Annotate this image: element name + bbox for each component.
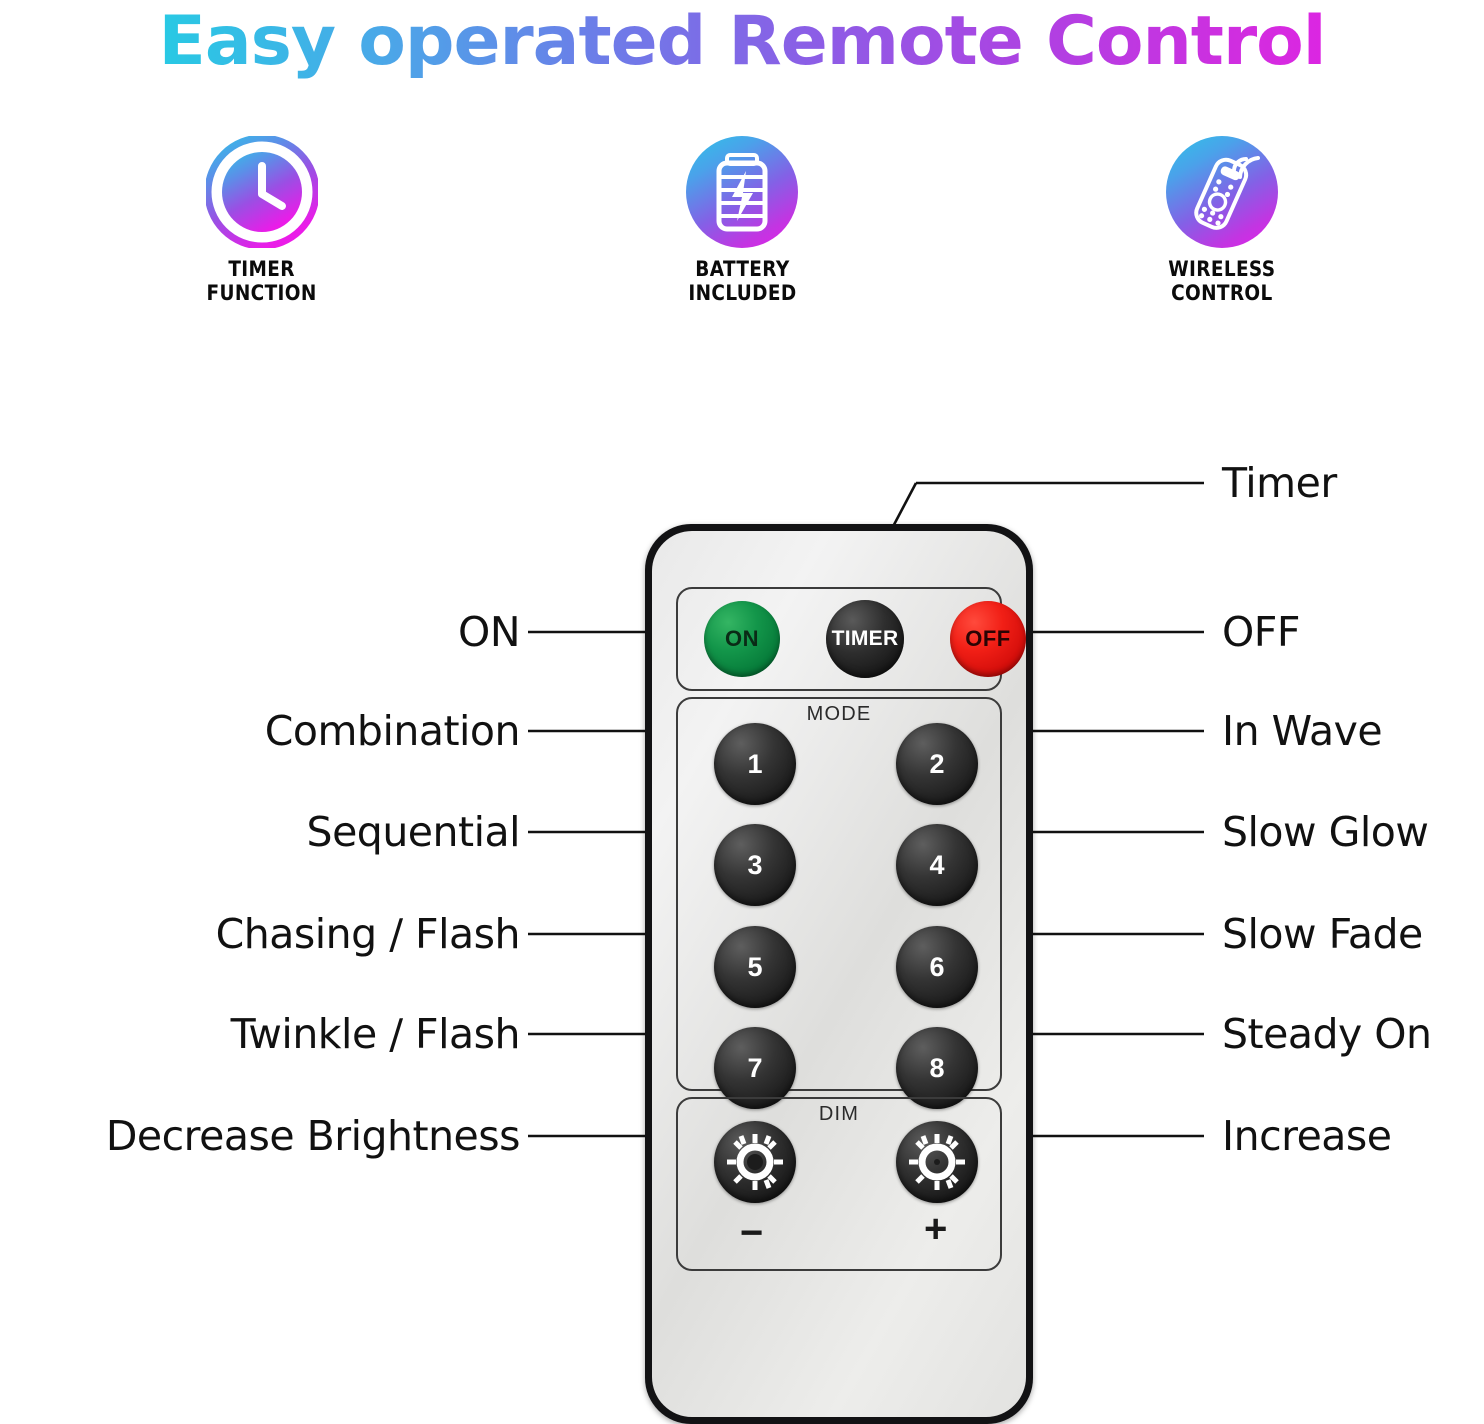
mode-panel-title: MODE <box>678 703 1000 726</box>
callout-in-wave: In Wave <box>1222 707 1382 755</box>
feature-timer-function: TIMER FUNCTION <box>167 136 357 316</box>
callout-sequential: Sequential <box>307 808 520 856</box>
callout-timer: Timer <box>1222 459 1337 507</box>
feature-badges: TIMER FUNCTION BATTERY INCLUDED <box>0 136 1484 316</box>
callout-off: OFF <box>1222 608 1300 656</box>
feature-label: TIMER FUNCTION <box>207 258 317 305</box>
dim-panel: DIM <box>676 1097 1002 1271</box>
feature-label: BATTERY INCLUDED <box>688 258 796 305</box>
sun-bright-icon <box>907 1132 967 1192</box>
decrease-brightness-button[interactable] <box>714 1121 796 1203</box>
mode-button-4[interactable]: 4 <box>896 824 978 906</box>
remote-face: ON TIMER OFF MODE 1 2 3 4 5 6 7 8 DIM <box>652 531 1026 1417</box>
page-title: Easy operated Remote Control <box>0 2 1484 81</box>
clock-icon <box>206 136 318 248</box>
off-button[interactable]: OFF <box>950 601 1026 677</box>
callout-slow-glow: Slow Glow <box>1222 808 1428 856</box>
remote-control: ON TIMER OFF MODE 1 2 3 4 5 6 7 8 DIM <box>645 524 1033 1424</box>
mode-button-6[interactable]: 6 <box>896 926 978 1008</box>
callout-chasing-flash: Chasing / Flash <box>216 910 520 958</box>
callout-steady-on: Steady On <box>1222 1010 1432 1058</box>
mode-button-1[interactable]: 1 <box>714 723 796 805</box>
mode-button-3[interactable]: 3 <box>714 824 796 906</box>
dim-panel-title: DIM <box>678 1103 1000 1126</box>
remote-signal-icon <box>1166 136 1278 248</box>
feature-wireless-control: WIRELESS CONTROL <box>1127 136 1317 316</box>
on-button[interactable]: ON <box>704 601 780 677</box>
callout-twinkle-flash: Twinkle / Flash <box>231 1010 520 1058</box>
callout-slow-fade: Slow Fade <box>1222 910 1423 958</box>
timer-button[interactable]: TIMER <box>826 600 904 678</box>
battery-icon <box>686 136 798 248</box>
power-panel: ON TIMER OFF <box>676 587 1002 691</box>
mode-button-5[interactable]: 5 <box>714 926 796 1008</box>
mode-panel: MODE 1 2 3 4 5 6 7 8 <box>676 697 1002 1091</box>
sun-dim-icon <box>725 1132 785 1192</box>
callout-decrease-brightness: Decrease Brightness <box>106 1112 520 1160</box>
dim-minus-sign: − <box>740 1211 763 1256</box>
callout-combination: Combination <box>265 707 520 755</box>
callout-increase: Increase <box>1222 1112 1392 1160</box>
dim-plus-sign: + <box>924 1207 947 1252</box>
feature-label: WIRELESS CONTROL <box>1168 258 1275 305</box>
callout-on: ON <box>458 608 520 656</box>
increase-brightness-button[interactable] <box>896 1121 978 1203</box>
mode-button-2[interactable]: 2 <box>896 723 978 805</box>
feature-battery-included: BATTERY INCLUDED <box>647 136 837 316</box>
